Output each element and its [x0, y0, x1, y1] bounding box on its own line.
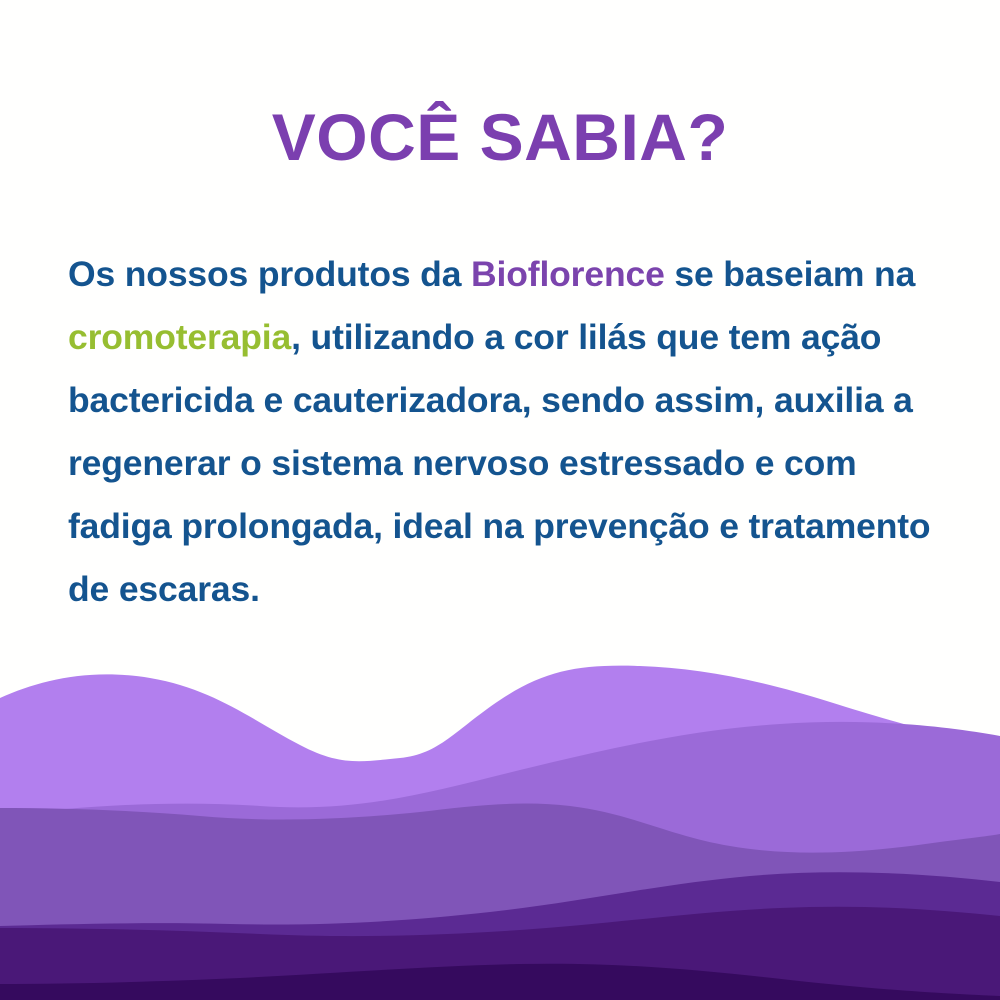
decorative-wave-graphic	[0, 640, 1000, 1000]
body-paragraph: Os nossos produtos da Bioflorence se bas…	[68, 243, 948, 621]
body-segment-2: se baseiam na	[665, 254, 916, 294]
brand-name-bioflorence: Bioflorence	[471, 254, 665, 294]
page-title: VOCÊ SABIA?	[0, 104, 1000, 170]
body-segment-3: , utilizando a cor lilás que tem ação ba…	[68, 317, 930, 609]
body-segment-1: Os nossos produtos da	[68, 254, 471, 294]
informational-graphic-card: VOCÊ SABIA? Os nossos produtos da Bioflo…	[0, 0, 1000, 1000]
highlight-cromoterapia: cromoterapia	[68, 317, 291, 357]
